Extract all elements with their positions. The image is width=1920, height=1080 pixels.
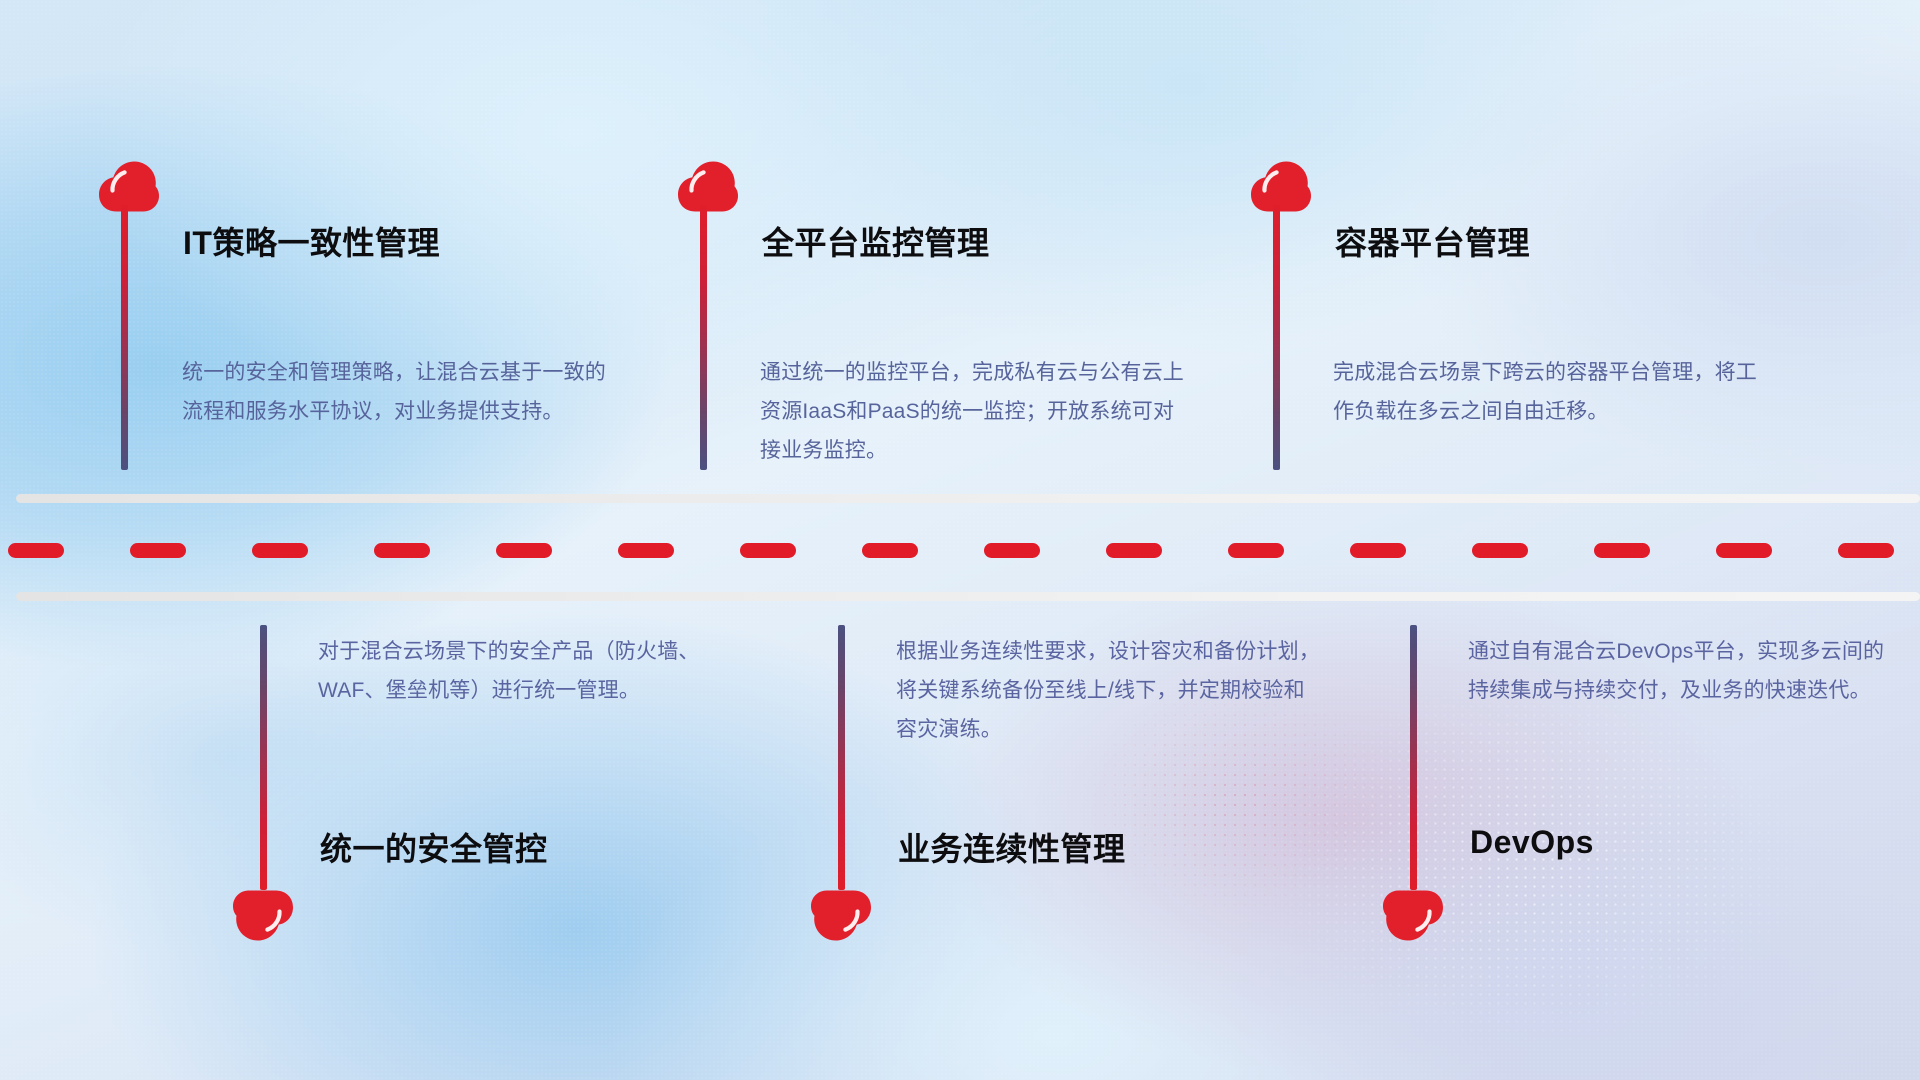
connector-stem: [838, 625, 845, 890]
divider-dashed-line: [0, 543, 1920, 558]
divider-dash: [8, 543, 64, 558]
divider-dash: [984, 543, 1040, 558]
card-description: 完成混合云场景下跨云的容器平台管理，将工作负载在多云之间自由迁移。: [1333, 353, 1761, 431]
cloud-icon: [1250, 160, 1312, 212]
connector-stem: [1410, 625, 1417, 890]
connector-stem: [1273, 205, 1280, 470]
cloud-icon: [1382, 890, 1444, 942]
card-title: 容器平台管理: [1335, 218, 1530, 264]
divider-dash: [1106, 543, 1162, 558]
connector-stem: [260, 625, 267, 890]
card-description: 通过统一的监控平台，完成私有云与公有云上资源IaaS和PaaS的统一监控；开放系…: [760, 353, 1188, 470]
divider-dash: [862, 543, 918, 558]
divider-dash: [252, 543, 308, 558]
divider-dash: [1716, 543, 1772, 558]
card-title: 业务连续性管理: [898, 824, 1126, 870]
connector-stem: [700, 205, 707, 470]
connector-stem: [121, 205, 128, 470]
divider-dash: [740, 543, 796, 558]
divider-dash: [374, 543, 430, 558]
infographic-canvas: IT策略一致性管理 统一的安全和管理策略，让混合云基于一致的流程和服务水平协议，…: [0, 0, 1920, 1080]
cloud-icon: [232, 890, 294, 942]
divider-rule-bottom: [16, 592, 1920, 601]
divider-rule-top: [16, 494, 1920, 503]
divider-dash: [1594, 543, 1650, 558]
card-title: 全平台监控管理: [762, 218, 990, 264]
divider-dash: [130, 543, 186, 558]
card-description: 根据业务连续性要求，设计容灾和备份计划，将关键系统备份至线上/线下，并定期校验和…: [896, 632, 1324, 749]
card-description: 通过自有混合云DevOps平台，实现多云间的持续集成与持续交付，及业务的快速迭代…: [1468, 632, 1896, 710]
card-title: IT策略一致性管理: [183, 218, 440, 264]
divider-dash: [496, 543, 552, 558]
card-description: 对于混合云场景下的安全产品（防火墙、WAF、堡垒机等）进行统一管理。: [318, 632, 746, 710]
card-title: DevOps: [1470, 824, 1594, 861]
card-title: 统一的安全管控: [320, 824, 548, 870]
divider-dash: [1838, 543, 1894, 558]
cloud-icon: [98, 160, 160, 212]
divider-dash: [618, 543, 674, 558]
cloud-icon: [810, 890, 872, 942]
cloud-icon: [677, 160, 739, 212]
divider-dash: [1472, 543, 1528, 558]
card-description: 统一的安全和管理策略，让混合云基于一致的流程和服务水平协议，对业务提供支持。: [182, 353, 610, 431]
divider-dash: [1228, 543, 1284, 558]
divider-dash: [1350, 543, 1406, 558]
